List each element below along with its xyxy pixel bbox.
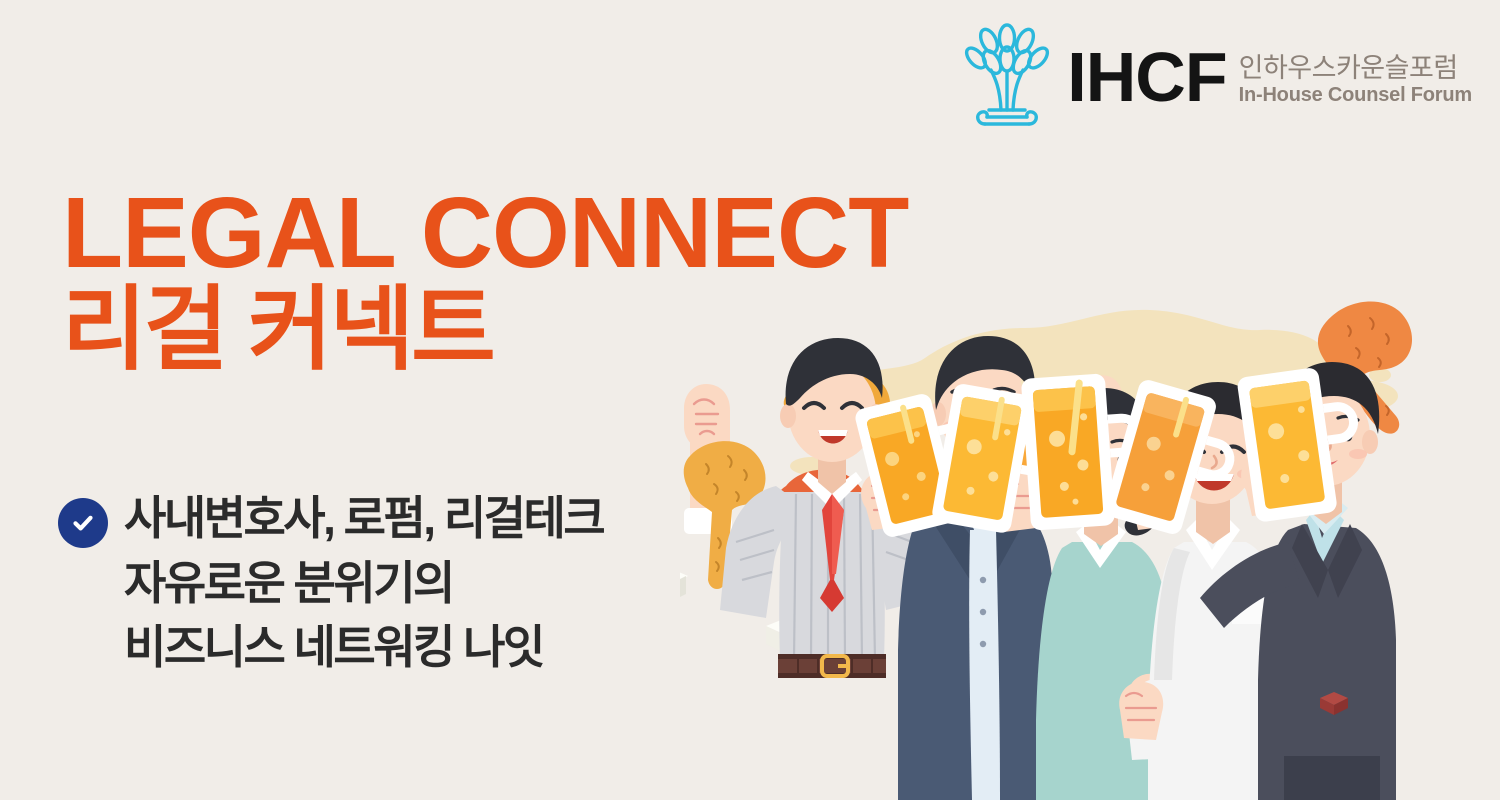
legal-connect-banner: IHCF 인하우스카운슬포럼 In-House Counsel Forum LE…	[0, 0, 1500, 800]
list-item: 비즈니스 네트워킹 나잇	[124, 617, 603, 678]
logo-acronym: IHCF	[1067, 46, 1226, 109]
headline-english: LEGAL CONNECT	[62, 186, 908, 281]
people-toasting-illustration	[680, 280, 1500, 800]
list-item: 사내변호사, 로펌, 리걸테크	[124, 488, 603, 549]
description-lines: 사내변호사, 로펌, 리걸테크 자유로운 분위기의 비즈니스 네트워킹 나잇	[124, 488, 603, 678]
logo-name-korean: 인하우스카운슬포럼	[1239, 54, 1472, 82]
ihcf-logo[interactable]: IHCF 인하우스카운슬포럼 In-House Counsel Forum	[961, 22, 1472, 132]
check-circle-icon	[58, 498, 108, 548]
logo-name-english: In-House Counsel Forum	[1239, 85, 1472, 106]
logo-wordmark: IHCF 인하우스카운슬포럼 In-House Counsel Forum	[1067, 46, 1472, 109]
list-item: 자유로운 분위기의	[124, 553, 603, 614]
logo-subtitle-group: 인하우스카운슬포럼 In-House Counsel Forum	[1239, 48, 1472, 105]
description-block: 사내변호사, 로펌, 리걸테크 자유로운 분위기의 비즈니스 네트워킹 나잇	[58, 488, 603, 678]
ihcf-wheat-scroll-logo-icon	[961, 22, 1053, 132]
